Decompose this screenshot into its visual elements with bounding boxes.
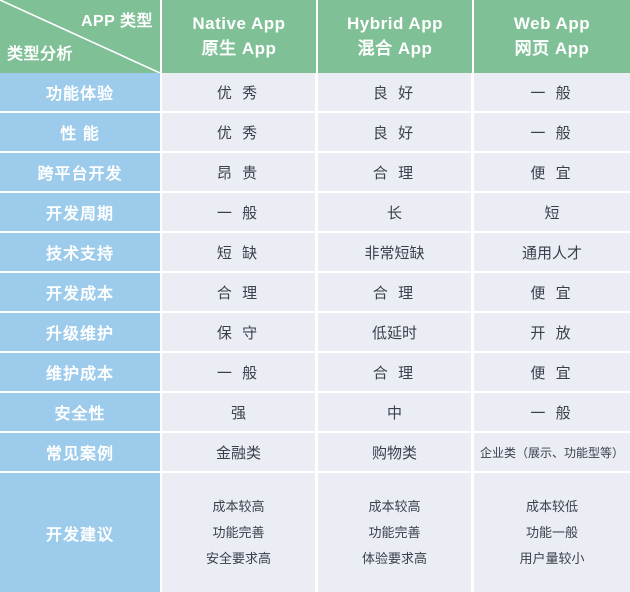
table-row: 升级维护 保 守 低延时 开 放 (0, 313, 630, 353)
cell-function-experience-web: 一 般 (474, 73, 630, 113)
row-label-dev-cycle: 开发周期 (0, 193, 162, 233)
cell-common-cases-hybrid: 购物类 (318, 433, 474, 473)
recommendation-line: 功能完善 (162, 520, 315, 546)
cell-upgrade-maintenance-native: 保 守 (162, 313, 318, 353)
table-header: APP 类型 类型分析 Native App 原生 App Hybrid App… (0, 0, 630, 73)
column-header-hybrid-app: Hybrid App 混合 App (318, 0, 474, 73)
cell-dev-recommendation-web: 成本较低 功能一般 用户量较小 (474, 473, 630, 592)
column-header-hybrid-app-zh: 混合 App (318, 37, 472, 62)
column-header-web-app: Web App 网页 App (474, 0, 630, 73)
recommendation-line: 安全要求高 (162, 546, 315, 572)
row-label-dev-cost: 开发成本 (0, 273, 162, 313)
cell-common-cases-native: 金融类 (162, 433, 318, 473)
cell-dev-recommendation-hybrid: 成本较高 功能完善 体验要求高 (318, 473, 474, 592)
table-body: 功能体验 优 秀 良 好 一 般 性 能 优 秀 良 好 一 般 跨平台开发 昂… (0, 73, 630, 592)
cell-maintenance-cost-native: 一 般 (162, 353, 318, 393)
recommendation-line: 功能一般 (474, 520, 630, 546)
table-row: 性 能 优 秀 良 好 一 般 (0, 113, 630, 153)
column-header-native-app-en: Native App (162, 12, 316, 37)
row-label-cross-platform: 跨平台开发 (0, 153, 162, 193)
row-label-upgrade-maintenance: 升级维护 (0, 313, 162, 353)
cell-performance-hybrid: 良 好 (318, 113, 474, 153)
row-label-maintenance-cost: 维护成本 (0, 353, 162, 393)
row-label-tech-support: 技术支持 (0, 233, 162, 273)
cell-performance-web: 一 般 (474, 113, 630, 153)
cell-maintenance-cost-web: 便 宜 (474, 353, 630, 393)
header-row: APP 类型 类型分析 Native App 原生 App Hybrid App… (0, 0, 630, 73)
app-type-comparison-table: APP 类型 类型分析 Native App 原生 App Hybrid App… (0, 0, 630, 592)
cell-security-hybrid: 中 (318, 393, 474, 433)
cell-dev-cycle-web: 短 (474, 193, 630, 233)
cell-maintenance-cost-hybrid: 合 理 (318, 353, 474, 393)
row-label-dev-recommendation: 开发建议 (0, 473, 162, 592)
cell-dev-cycle-native: 一 般 (162, 193, 318, 233)
column-header-native-app-zh: 原生 App (162, 37, 316, 62)
column-header-web-app-zh: 网页 App (474, 37, 630, 62)
row-label-common-cases: 常见案例 (0, 433, 162, 473)
recommendation-line: 用户量较小 (474, 546, 630, 572)
comparison-table-container: APP 类型 类型分析 Native App 原生 App Hybrid App… (0, 0, 630, 576)
cell-upgrade-maintenance-web: 开 放 (474, 313, 630, 353)
table-row: 维护成本 一 般 合 理 便 宜 (0, 353, 630, 393)
cell-performance-native: 优 秀 (162, 113, 318, 153)
table-row: 功能体验 优 秀 良 好 一 般 (0, 73, 630, 113)
recommendation-line: 功能完善 (318, 520, 471, 546)
table-row-recommendation: 开发建议 成本较高 功能完善 安全要求高 成本较高 功能完善 体验要求高 成本较… (0, 473, 630, 592)
row-label-security: 安全性 (0, 393, 162, 433)
cell-dev-cost-hybrid: 合 理 (318, 273, 474, 313)
cell-dev-cycle-hybrid: 长 (318, 193, 474, 233)
header-corner-cell: APP 类型 类型分析 (0, 0, 162, 73)
column-header-hybrid-app-en: Hybrid App (318, 12, 472, 37)
cell-dev-cost-native: 合 理 (162, 273, 318, 313)
cell-tech-support-native: 短 缺 (162, 233, 318, 273)
table-row: 开发周期 一 般 长 短 (0, 193, 630, 233)
column-header-native-app: Native App 原生 App (162, 0, 318, 73)
column-header-web-app-en: Web App (474, 12, 630, 37)
recommendation-line: 成本较高 (318, 494, 471, 520)
row-label-performance: 性 能 (0, 113, 162, 153)
table-row: 跨平台开发 昂 贵 合 理 便 宜 (0, 153, 630, 193)
corner-bottom-label: 类型分析 (7, 40, 73, 64)
cell-cross-platform-native: 昂 贵 (162, 153, 318, 193)
corner-top-label: APP 类型 (81, 7, 153, 31)
cell-tech-support-hybrid: 非常短缺 (318, 233, 474, 273)
cell-dev-recommendation-native: 成本较高 功能完善 安全要求高 (162, 473, 318, 592)
table-row: 安全性 强 中 一 般 (0, 393, 630, 433)
table-row: 开发成本 合 理 合 理 便 宜 (0, 273, 630, 313)
cell-cross-platform-web: 便 宜 (474, 153, 630, 193)
cell-security-web: 一 般 (474, 393, 630, 433)
cell-function-experience-hybrid: 良 好 (318, 73, 474, 113)
table-row: 常见案例 金融类 购物类 企业类（展示、功能型等） (0, 433, 630, 473)
cell-common-cases-web: 企业类（展示、功能型等） (474, 433, 630, 473)
recommendation-line: 成本较低 (474, 494, 630, 520)
cell-upgrade-maintenance-hybrid: 低延时 (318, 313, 474, 353)
cell-tech-support-web: 通用人才 (474, 233, 630, 273)
cell-function-experience-native: 优 秀 (162, 73, 318, 113)
recommendation-line: 体验要求高 (318, 546, 471, 572)
cell-dev-cost-web: 便 宜 (474, 273, 630, 313)
recommendation-line: 成本较高 (162, 494, 315, 520)
table-row: 技术支持 短 缺 非常短缺 通用人才 (0, 233, 630, 273)
cell-security-native: 强 (162, 393, 318, 433)
row-label-function-experience: 功能体验 (0, 73, 162, 113)
cell-cross-platform-hybrid: 合 理 (318, 153, 474, 193)
